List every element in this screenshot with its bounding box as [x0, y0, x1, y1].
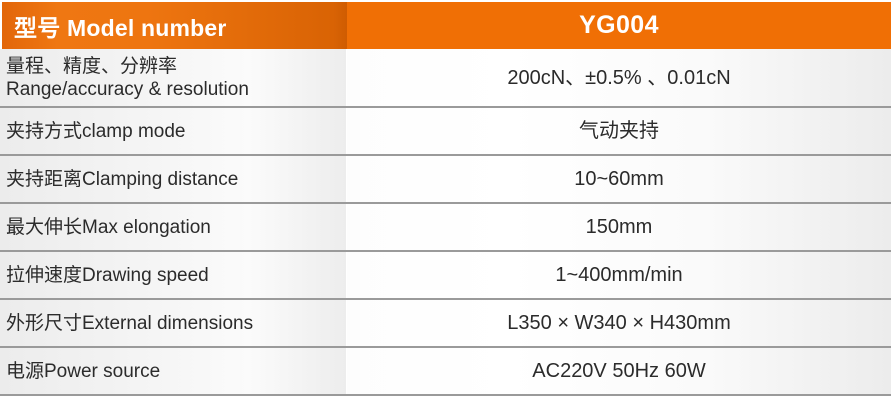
row-label-line-cn: 夹持距离Clamping distance — [6, 168, 346, 191]
row-value-range-accuracy-resolution: 200cN、±0.5% 、0.01cN — [347, 49, 891, 106]
row-label-power-source: 电源Power source — [0, 348, 347, 394]
row-value-max-elongation: 150mm — [347, 204, 891, 250]
row-value-clamp-mode: 气动夹持 — [347, 108, 891, 154]
row-label-line-en: Range/accuracy & resolution — [6, 78, 346, 101]
row-label-line-cn: 夹持方式clamp mode — [6, 120, 346, 143]
row-value-clamping-distance: 10~60mm — [347, 156, 891, 202]
specification-table: 型号 Model number YG004 量程、精度、分辨率 Range/ac… — [0, 0, 891, 401]
row-label-range-accuracy-resolution: 量程、精度、分辨率 Range/accuracy & resolution — [0, 49, 347, 106]
header-parameter-label: 型号 Model number — [14, 9, 227, 43]
row-label-drawing-speed: 拉伸速度Drawing speed — [0, 252, 347, 298]
row-label-line-cn: 外形尺寸External dimensions — [6, 312, 346, 335]
table-body: 量程、精度、分辨率 Range/accuracy & resolution 20… — [0, 49, 891, 396]
table-header-row: 型号 Model number YG004 — [0, 0, 891, 49]
row-label-line-cn: 电源Power source — [6, 360, 346, 383]
header-cell-parameter: 型号 Model number — [2, 2, 347, 49]
row-value-text: 1~400mm/min — [555, 263, 682, 287]
table-row: 电源Power source AC220V 50Hz 60W — [0, 346, 891, 394]
table-row: 夹持方式clamp mode 气动夹持 — [0, 106, 891, 154]
row-label-external-dimensions: 外形尺寸External dimensions — [0, 300, 347, 346]
row-value-text: 200cN、±0.5% 、0.01cN — [507, 66, 730, 90]
row-label-line-cn: 最大伸长Max elongation — [6, 216, 346, 239]
row-value-power-source: AC220V 50Hz 60W — [347, 348, 891, 394]
row-label-clamp-mode: 夹持方式clamp mode — [0, 108, 347, 154]
table-row: 夹持距离Clamping distance 10~60mm — [0, 154, 891, 202]
header-model-value: YG004 — [579, 11, 659, 40]
row-value-text: 150mm — [586, 215, 653, 239]
row-value-text: L350 × W340 × H430mm — [507, 311, 730, 335]
row-value-text: 10~60mm — [574, 167, 664, 191]
row-value-external-dimensions: L350 × W340 × H430mm — [347, 300, 891, 346]
row-label-line-cn: 量程、精度、分辨率 — [6, 55, 346, 78]
row-label-line-cn: 拉伸速度Drawing speed — [6, 264, 346, 287]
row-value-text: 气动夹持 — [579, 119, 659, 143]
header-cell-model: YG004 — [347, 2, 891, 49]
table-row: 最大伸长Max elongation 150mm — [0, 202, 891, 250]
table-row: 外形尺寸External dimensions L350 × W340 × H4… — [0, 298, 891, 346]
row-value-text: AC220V 50Hz 60W — [532, 359, 705, 383]
row-label-clamping-distance: 夹持距离Clamping distance — [0, 156, 347, 202]
row-label-max-elongation: 最大伸长Max elongation — [0, 204, 347, 250]
row-value-drawing-speed: 1~400mm/min — [347, 252, 891, 298]
table-row: 量程、精度、分辨率 Range/accuracy & resolution 20… — [0, 49, 891, 106]
table-row: 拉伸速度Drawing speed 1~400mm/min — [0, 250, 891, 298]
